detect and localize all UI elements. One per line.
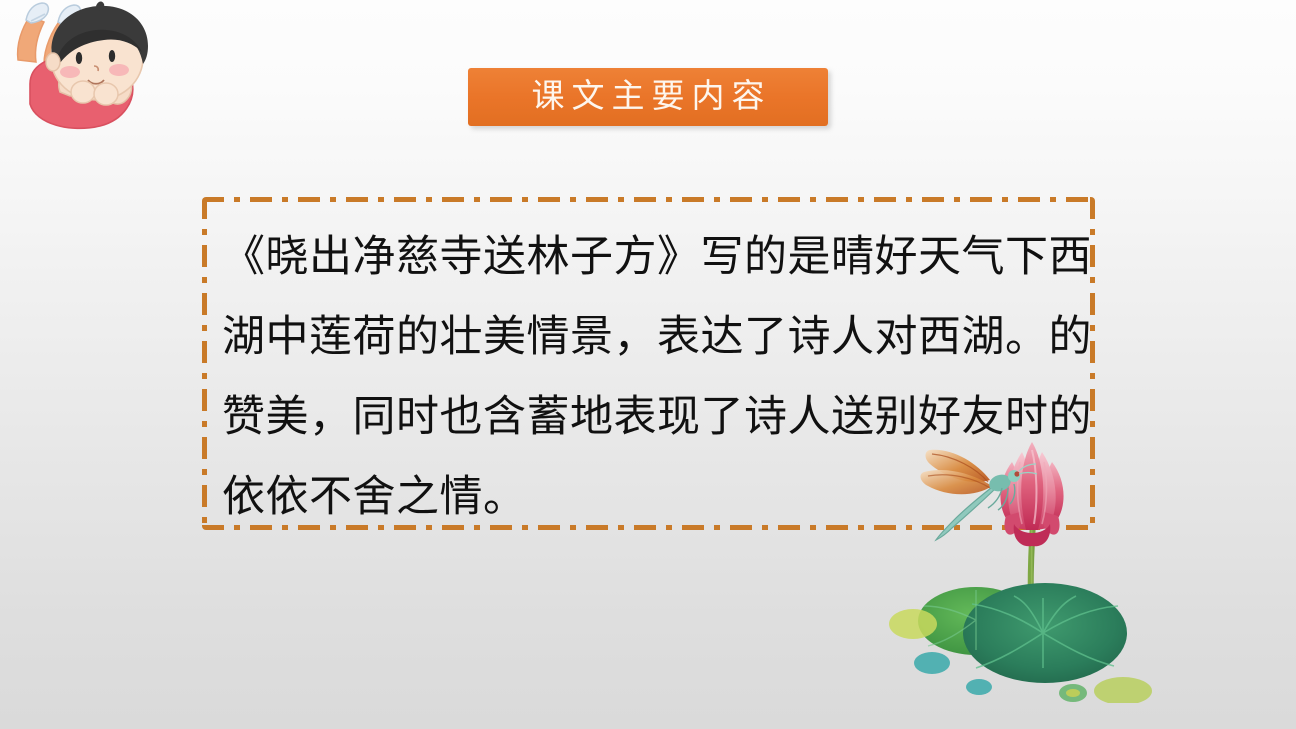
lotus-flower-icon [880,428,1170,703]
floating-leaf [966,679,992,695]
floating-leaf [914,652,950,674]
slide-canvas: 课文主要内容 《晓出净慈寺送林子方》写的是晴好天气下西 湖中莲荷的壮美情景，表达… [0,0,1296,729]
floating-leaf [1094,677,1152,703]
lotus-illustration [880,428,1170,703]
section-title-text: 课文主要内容 [525,81,772,114]
paragraph-line: 湖中莲荷的壮美情景，表达了诗人对西湖。的 [222,298,1082,378]
cartoon-child-icon [0,0,160,136]
section-title-banner: 课文主要内容 [468,68,828,126]
cartoon-child-illustration [0,0,160,136]
lotus-pad-front [963,583,1127,683]
floating-leaf [889,609,937,639]
paragraph-line: 《晓出净慈寺送林子方》写的是晴好天气下西 [222,218,1082,298]
floating-leaf-center [1066,689,1080,697]
